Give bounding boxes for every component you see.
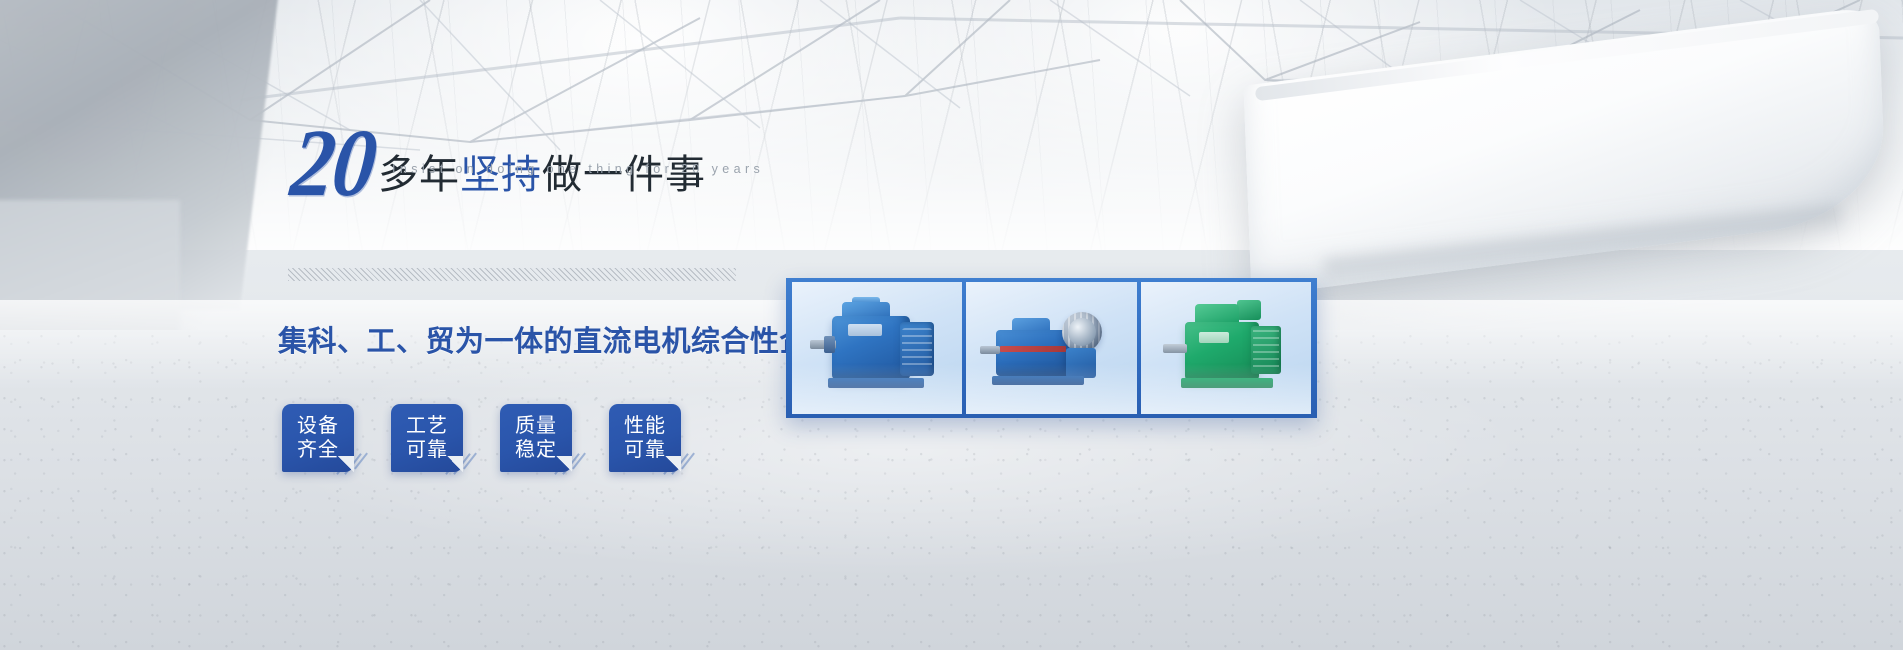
banner-subtitle: 集科、工、贸为一体的直流电机综合性企业 bbox=[278, 318, 839, 360]
feature-badge-0[interactable]: 设备 齐全 bbox=[282, 404, 354, 472]
green-dc-motor-icon bbox=[1151, 296, 1301, 400]
feature-badge-3[interactable]: 性能 可靠 bbox=[609, 404, 681, 472]
feature-badge-1[interactable]: 工艺 可靠 bbox=[391, 404, 463, 472]
product-showcase-panel bbox=[786, 278, 1317, 418]
product-cell-1[interactable] bbox=[966, 282, 1136, 414]
blue-dc-motor-large-icon bbox=[802, 296, 952, 400]
badge-body[interactable]: 设备 齐全 bbox=[282, 404, 354, 472]
feature-badge-2[interactable]: 质量 稳定 bbox=[500, 404, 572, 472]
badge-line-2: 可靠 bbox=[624, 438, 666, 462]
product-cell-2[interactable] bbox=[1141, 282, 1311, 414]
badge-line-2: 齐全 bbox=[297, 438, 339, 462]
feature-badge-list: 设备 齐全 工艺 可靠 质量 稳定 bbox=[282, 404, 681, 472]
badge-body[interactable]: 质量 稳定 bbox=[500, 404, 572, 472]
banner-copy: 20 多年坚持做一件事 Insist on doing one thing fo… bbox=[0, 0, 820, 650]
blue-dc-motor-with-blower-icon bbox=[976, 296, 1126, 400]
badge-line-2: 稳定 bbox=[515, 438, 557, 462]
badge-body[interactable]: 工艺 可靠 bbox=[391, 404, 463, 472]
hero-banner: 20 多年坚持做一件事 Insist on doing one thing fo… bbox=[0, 0, 1903, 650]
badge-line-1: 质量 bbox=[515, 414, 557, 438]
badge-line-2: 可靠 bbox=[406, 438, 448, 462]
badge-line-1: 工艺 bbox=[406, 414, 448, 438]
badge-line-1: 设备 bbox=[297, 414, 339, 438]
hatched-divider bbox=[288, 268, 736, 281]
headline-number: 20 bbox=[288, 124, 378, 203]
badge-line-1: 性能 bbox=[624, 414, 666, 438]
badge-body[interactable]: 性能 可靠 bbox=[609, 404, 681, 472]
product-cell-0[interactable] bbox=[792, 282, 962, 414]
english-tagline: Insist on doing one thing for 20 years bbox=[392, 162, 764, 176]
